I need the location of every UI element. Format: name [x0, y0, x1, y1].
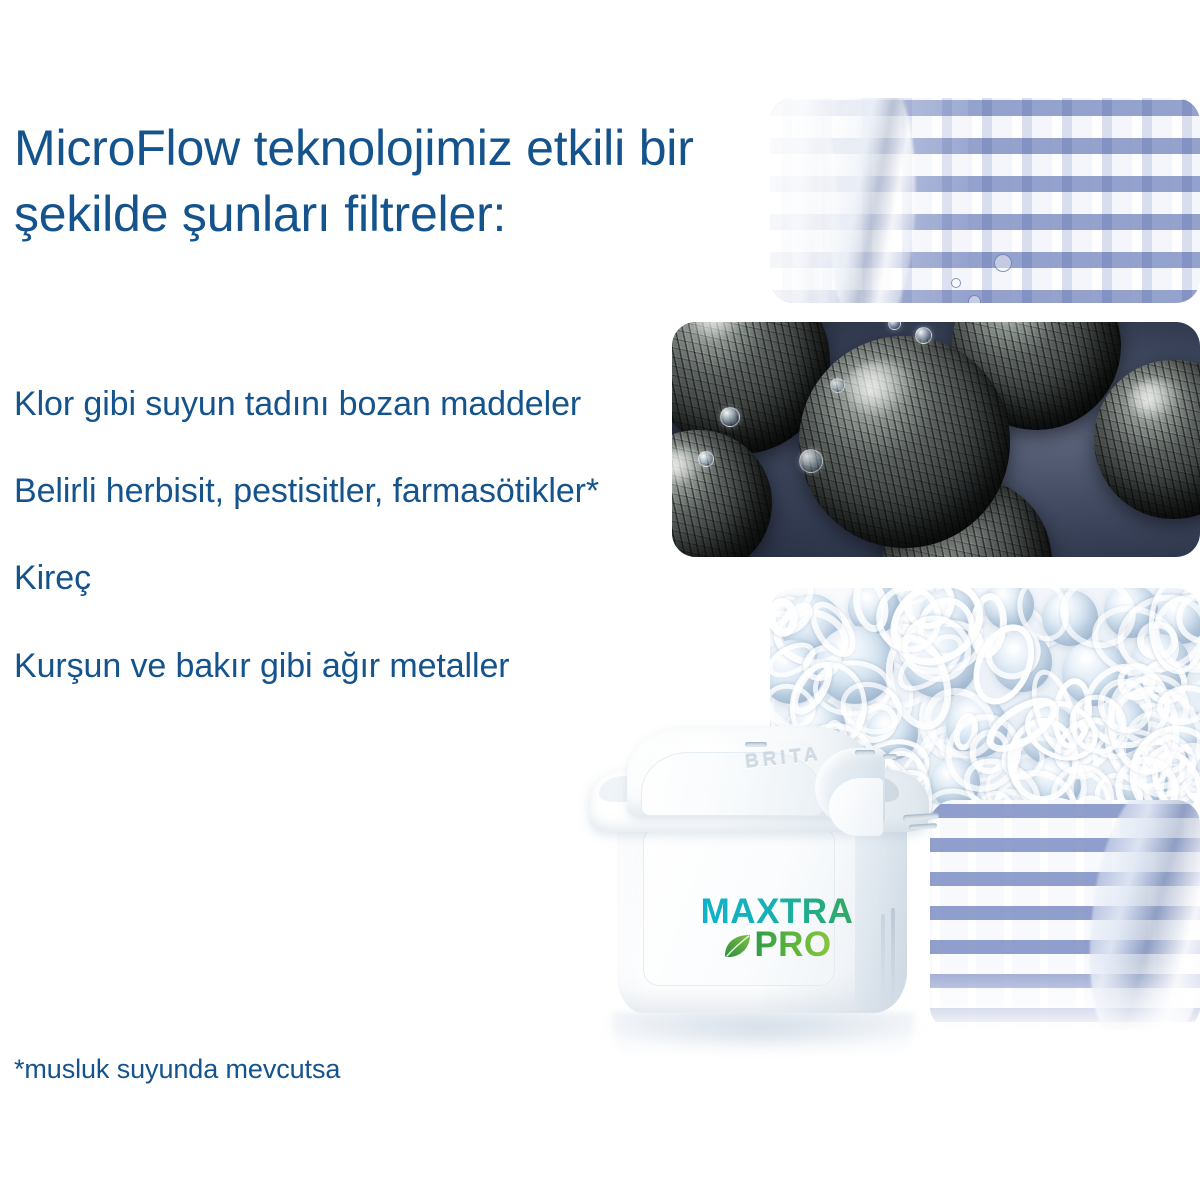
list-item: Kurşun ve bakır gibi ağır metaller: [14, 644, 694, 689]
cartridge-vent-slot: [855, 750, 875, 755]
list-item: Klor gibi suyun tadını bozan maddeler: [14, 382, 694, 427]
promo-canvas: MicroFlow teknolojimiz etkili bir şekild…: [0, 0, 1200, 1200]
maxtra-pro-logo: MAXTRA PRO: [687, 894, 867, 961]
cartridge-spout: [815, 748, 885, 826]
cartridge-spout-lip: [829, 778, 883, 836]
cartridge-rib: [881, 914, 885, 998]
mesh-fade-overlay: [930, 961, 1200, 1030]
leaf-icon: [722, 933, 752, 959]
water-droplet-icon: [994, 254, 1012, 272]
bubble-icon: [915, 327, 932, 344]
panel-carbon-spheres: [672, 322, 1200, 557]
bubble-icon: [799, 449, 823, 473]
mesh-fade-overlay: [770, 98, 968, 303]
logo-pro-text: PRO: [754, 927, 831, 962]
footnote: *musluk suyunda mevcutsa: [14, 1052, 340, 1087]
cartridge-reflection: [613, 1012, 913, 1066]
cartridge-vent-slot: [883, 754, 897, 759]
cartridge-rib: [891, 908, 895, 1000]
logo-pro-row: PRO: [687, 927, 867, 961]
maxtra-pro-cartridge: BRITA MAXTRA PRO: [565, 712, 965, 1072]
water-droplet-icon: [951, 278, 961, 288]
panel-mesh-bottom: [930, 800, 1200, 1030]
bubble-icon: [720, 407, 740, 427]
carbon-sphere: [799, 336, 1010, 548]
cartridge-lid: BRITA: [627, 726, 879, 818]
panel-mesh-top: [770, 98, 1200, 303]
water-droplet-icon: [968, 295, 981, 303]
cartridge-vent-slot: [903, 813, 939, 821]
cartridge-vent-slot: [909, 823, 937, 830]
filter-benefits-list: Klor gibi suyun tadını bozan maddeler Be…: [14, 382, 694, 689]
list-item: Kireç: [14, 556, 694, 601]
logo-maxtra-text: MAXTRA: [687, 894, 867, 929]
cartridge-vent-slot: [745, 742, 767, 747]
list-item: Belirli herbisit, pestisitler, farmasöti…: [14, 469, 694, 514]
page-title: MicroFlow teknolojimiz etkili bir şekild…: [14, 115, 714, 247]
